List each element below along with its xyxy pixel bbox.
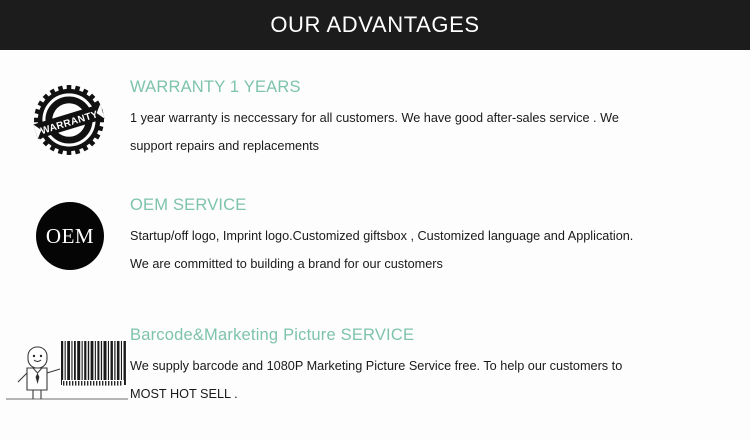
advantage-heading: WARRANTY 1 YEARS: [130, 78, 730, 96]
oem-circle-shape: OEM: [36, 202, 104, 270]
advantage-text-cell: Barcode&Marketing Picture SERVICE We sup…: [130, 326, 750, 409]
page-title: OUR ADVANTAGES: [270, 12, 479, 38]
advantage-icon-cell: OEM: [0, 196, 130, 291]
oem-circle-label: OEM: [46, 224, 94, 249]
advantages-page: OUR ADVANTAGES: [0, 0, 750, 440]
barcode-person-icon: [2, 330, 130, 410]
advantage-item-barcode: Barcode&Marketing Picture SERVICE We sup…: [0, 326, 750, 421]
advantage-text-cell: OEM SERVICE Startup/off logo, Imprint lo…: [130, 196, 750, 279]
advantage-description: Startup/off logo, Imprint logo.Customize…: [130, 223, 650, 278]
advantage-icon-cell: WARRANTY: [0, 78, 130, 173]
cartoon-person: [18, 347, 60, 399]
oem-circle-icon: OEM: [36, 202, 106, 272]
advantage-description: We supply barcode and 1080P Marketing Pi…: [130, 353, 650, 408]
advantage-heading: OEM SERVICE: [130, 196, 730, 214]
advantage-icon-cell: [0, 326, 130, 421]
warranty-seal-icon: WARRANTY: [31, 82, 107, 158]
advantage-item-oem: OEM OEM SERVICE Startup/off logo, Imprin…: [0, 196, 750, 291]
advantage-item-warranty: WARRANTY WARRANTY 1 YEARS 1 year warrant…: [0, 78, 750, 173]
advantage-heading: Barcode&Marketing Picture SERVICE: [130, 326, 730, 344]
page-header-bar: OUR ADVANTAGES: [0, 0, 750, 50]
advantage-description: 1 year warranty is neccessary for all cu…: [130, 105, 650, 160]
barcode-bars: [60, 340, 128, 388]
advantage-text-cell: WARRANTY 1 YEARS 1 year warranty is necc…: [130, 78, 750, 161]
